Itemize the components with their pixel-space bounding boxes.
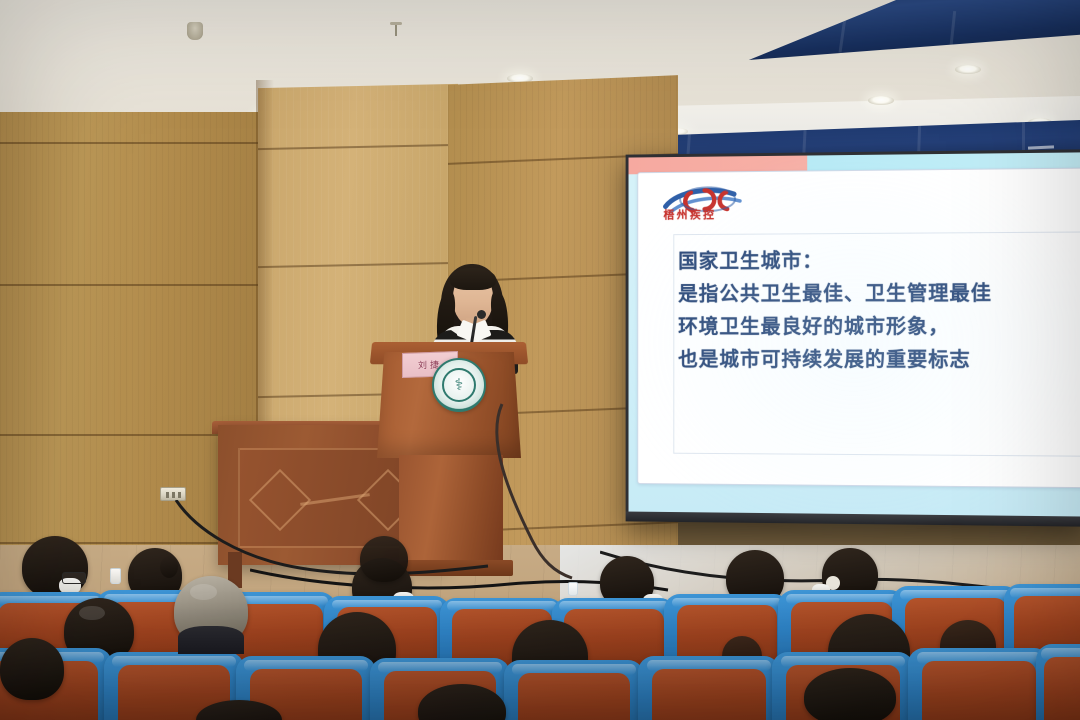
conference-hall-photo: 梧州疾控 国家卫生城市： 是指公共卫生最佳、卫生管理最佳 环境卫生最良好的城市形…: [0, 0, 1080, 720]
water-bottle: [568, 582, 578, 596]
audience-hair-bun: [160, 556, 178, 578]
speaker-fringe: [450, 268, 496, 290]
presentation-slide: 梧州疾控 国家卫生城市： 是指公共卫生最佳、卫生管理最佳 环境卫生最良好的城市形…: [629, 152, 1080, 516]
slide-text-box: 国家卫生城市： 是指公共卫生最佳、卫生管理最佳 环境卫生最良好的城市形象， 也是…: [673, 231, 1080, 456]
microphone-icon[interactable]: [477, 310, 486, 319]
emblem-inner-glyph: ⚕: [442, 368, 476, 402]
health-commission-emblem-icon: ⚕: [432, 358, 486, 412]
auditorium-chair[interactable]: [1036, 644, 1080, 720]
eyeglasses-icon: [62, 572, 86, 584]
sprinkler-head-icon: [390, 22, 402, 25]
ceiling-downlight-icon: [868, 96, 894, 105]
auditorium-chair[interactable]: [908, 648, 1050, 720]
projection-screen-surface: 梧州疾控 国家卫生城市： 是指公共卫生最佳、卫生管理最佳 环境卫生最良好的城市形…: [629, 152, 1080, 516]
slide-line-2: 是指公共卫生最佳、卫生管理最佳: [678, 276, 1080, 310]
projection-screen[interactable]: 梧州疾控 国家卫生城市： 是指公共卫生最佳、卫生管理最佳 环境卫生最良好的城市形…: [626, 149, 1080, 526]
audience-head: [0, 638, 64, 700]
slide-line-3: 环境卫生最良好的城市形象，: [678, 310, 1080, 343]
audience-head: [804, 668, 896, 720]
wall-power-outlet[interactable]: [160, 487, 186, 501]
slide-line-1: 国家卫生城市：: [678, 243, 1080, 278]
podium-cable: [480, 400, 620, 580]
audience-shoulder: [178, 626, 244, 654]
slide-content-card: 梧州疾控 国家卫生城市： 是指公共卫生最佳、卫生管理最佳 环境卫生最良好的城市形…: [637, 168, 1080, 489]
sprinkler-stem: [395, 24, 397, 36]
audience-head: [360, 536, 408, 582]
auditorium-chair[interactable]: [504, 660, 644, 720]
auditorium-chair[interactable]: [638, 656, 780, 720]
water-bottle: [110, 568, 121, 584]
ceiling-downlight-icon: [955, 65, 981, 74]
slide-line-4: 也是城市可持续发展的重要标志: [678, 343, 1080, 377]
smoke-detector-icon: [187, 22, 203, 40]
cdc-logo-label: 梧州疾控: [664, 206, 717, 222]
